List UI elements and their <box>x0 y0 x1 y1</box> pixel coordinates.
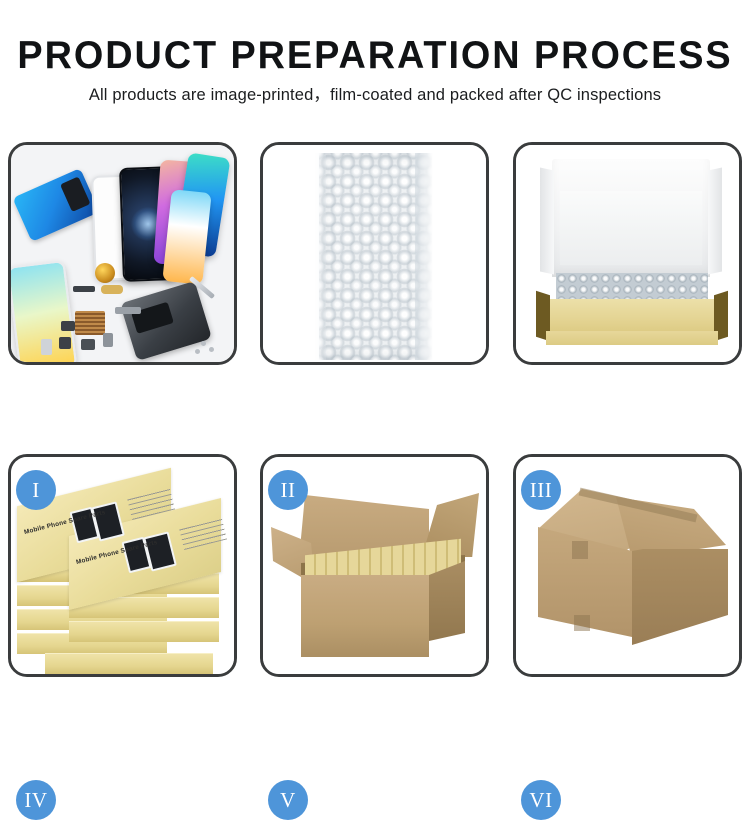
step-badge-3: III <box>521 470 561 510</box>
photo-bubble-wrap <box>263 145 486 362</box>
part-small-ic <box>61 321 75 331</box>
photo-inner-box <box>516 145 739 362</box>
step-badge-5: V <box>268 780 308 820</box>
part-camera-module <box>81 339 95 350</box>
step-badge-1: I <box>16 470 56 510</box>
part-button <box>103 333 113 347</box>
phone-blue-screen <box>12 168 99 242</box>
carton-side-face <box>429 561 465 641</box>
part-sim-tray <box>41 339 52 355</box>
copper-coil-part <box>95 263 115 283</box>
carton-front-face <box>301 575 429 657</box>
steps-grid: Mobile Phone Spare Parts Mobile Phone Sp… <box>8 142 742 677</box>
stacked-box <box>69 621 219 642</box>
phone-orange <box>162 189 211 285</box>
product-preparation-infographic: PRODUCT PREPARATION PROCESS All products… <box>0 0 750 750</box>
screw-part <box>195 349 200 354</box>
carton-tape-patch <box>572 541 588 559</box>
screw-part <box>209 347 214 352</box>
kraft-box-front <box>546 331 718 345</box>
carton-right-face <box>632 549 728 645</box>
photo-products-overview <box>11 145 234 362</box>
page-title: PRODUCT PREPARATION PROCESS <box>11 34 739 78</box>
page-subtitle: All products are image-printed，film-coat… <box>0 84 750 106</box>
part-gold-flex <box>101 285 123 294</box>
bubble-wrap-edge <box>415 153 433 360</box>
part-connector <box>73 286 95 292</box>
box-lid-foam <box>560 191 702 265</box>
stacked-box <box>45 653 213 674</box>
part-speaker <box>59 337 71 349</box>
step-panel-3 <box>513 142 742 365</box>
step-badge-2: II <box>268 470 308 510</box>
step-panel-1 <box>8 142 237 365</box>
step-panel-2 <box>260 142 489 365</box>
part-flex-cable <box>115 307 141 314</box>
bubble-wrapped-contents <box>556 273 708 301</box>
part-grid-mesh <box>75 311 105 335</box>
step-badge-6: VI <box>521 780 561 820</box>
step-badge-4: IV <box>16 780 56 820</box>
carton-tape-patch <box>574 615 590 631</box>
screw-part <box>201 341 206 346</box>
